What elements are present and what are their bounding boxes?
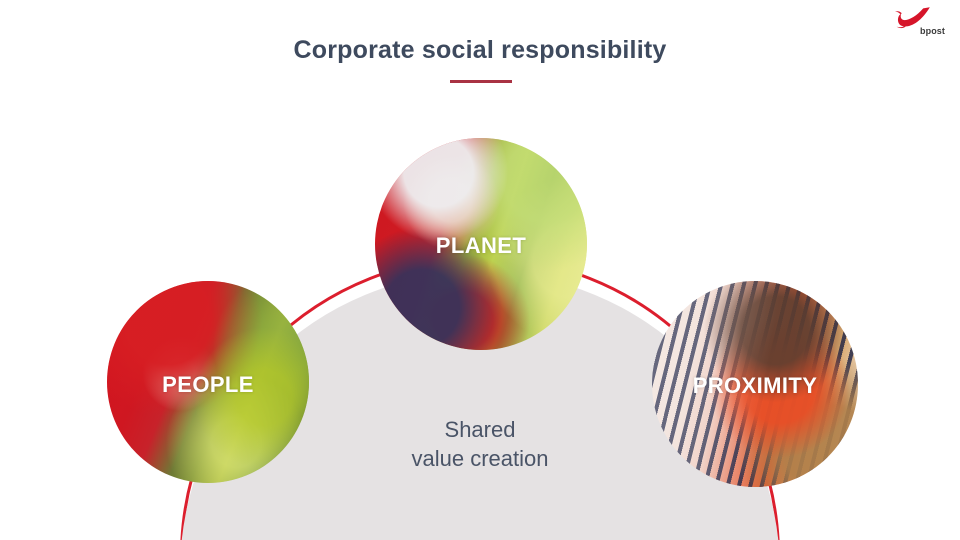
csr-venn-diagram: Shared value creation PEOPLE PLANET PROX… <box>0 0 960 540</box>
shared-value-caption: Shared value creation <box>330 415 630 473</box>
pillar-planet-label: PLANET <box>375 233 587 259</box>
pillar-people-label: PEOPLE <box>107 372 309 398</box>
pillar-proximity-label: PROXIMITY <box>652 373 858 399</box>
pillar-proximity[interactable]: PROXIMITY <box>652 281 858 487</box>
pillar-planet[interactable]: PLANET <box>375 138 587 350</box>
shared-value-line-1: Shared <box>330 415 630 444</box>
slide-canvas: Corporate social responsibility bpost Sh… <box>0 0 960 540</box>
pillar-people[interactable]: PEOPLE <box>107 281 309 483</box>
shared-value-line-2: value creation <box>330 444 630 473</box>
